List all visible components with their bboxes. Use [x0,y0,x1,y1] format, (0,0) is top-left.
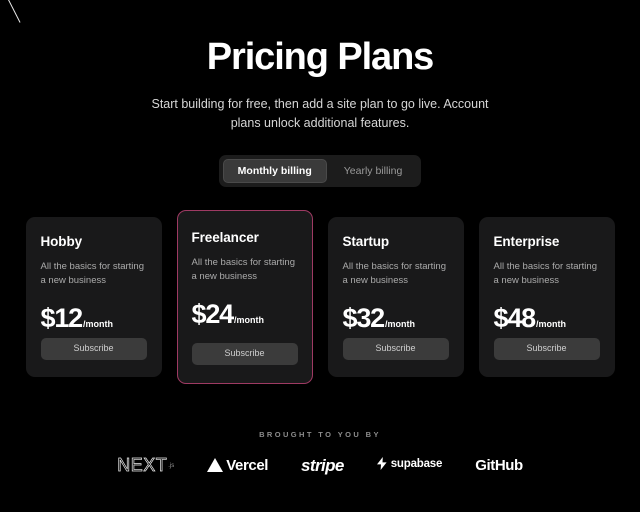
subscribe-button[interactable]: Subscribe [494,338,600,360]
nextjs-wordmark: NEXT [117,456,167,474]
page-subtitle: Start building for free, then add a site… [140,95,500,134]
plan-price-row: $12 /month [41,305,147,332]
plan-name: Hobby [41,235,147,249]
plan-price-row: $24 /month [192,301,298,328]
nextjs-logo[interactable]: NEXT .js [117,456,174,474]
plan-name: Freelancer [192,231,298,245]
plan-description: All the basics for starting a new busine… [192,256,298,284]
plan-name: Enterprise [494,235,600,249]
plan-price: $48 [494,305,535,332]
plan-description: All the basics for starting a new busine… [494,260,600,288]
vercel-triangle-icon [207,458,223,472]
brought-to-you-by-label: BROUGHT TO YOU BY [0,430,640,439]
plan-description: All the basics for starting a new busine… [343,260,449,288]
vercel-logo[interactable]: Vercel [207,458,268,473]
pricing-card-list: Hobby All the basics for starting a new … [0,209,640,384]
plan-price: $24 [192,301,233,328]
plan-name: Startup [343,235,449,249]
plan-price-row: $32 /month [343,305,449,332]
supabase-logo[interactable]: supabase [377,457,442,474]
hero-section: Pricing Plans Start building for free, t… [0,0,640,134]
plan-price: $32 [343,305,384,332]
pricing-card-startup[interactable]: Startup All the basics for starting a ne… [328,217,464,377]
billing-toggle-wrapper: Monthly billing Yearly billing [0,155,640,188]
plan-price-row: $48 /month [494,305,600,332]
plan-description: All the basics for starting a new busine… [41,260,147,288]
github-wordmark: GitHub [475,458,523,473]
stripe-logo[interactable]: stripe [301,457,344,474]
supabase-wordmark: supabase [391,459,442,471]
billing-toggle[interactable]: Monthly billing Yearly billing [219,155,422,188]
supabase-bolt-icon [377,457,387,474]
pricing-card-hobby[interactable]: Hobby All the basics for starting a new … [26,217,162,377]
plan-period: /month [385,320,415,329]
plan-period: /month [83,320,113,329]
github-logo[interactable]: GitHub [475,458,523,473]
footer-section: BROUGHT TO YOU BY NEXT .js Vercel stripe [0,430,640,474]
pricing-card-freelancer[interactable]: Freelancer All the basics for starting a… [177,210,313,384]
nextjs-suffix: .js [168,463,174,469]
stripe-wordmark: stripe [301,457,344,474]
vercel-wordmark: Vercel [226,458,268,473]
plan-price: $12 [41,305,82,332]
pricing-page: Pricing Plans Start building for free, t… [0,0,640,512]
toggle-monthly-billing[interactable]: Monthly billing [223,159,327,184]
sponsor-logo-list: NEXT .js Vercel stripe supabase [0,456,640,474]
page-title: Pricing Plans [0,38,640,78]
pricing-card-enterprise[interactable]: Enterprise All the basics for starting a… [479,217,615,377]
plan-period: /month [234,316,264,325]
plan-period: /month [536,320,566,329]
subscribe-button[interactable]: Subscribe [41,338,147,360]
subscribe-button[interactable]: Subscribe [343,338,449,360]
toggle-yearly-billing[interactable]: Yearly billing [329,159,418,184]
subscribe-button[interactable]: Subscribe [192,343,298,365]
